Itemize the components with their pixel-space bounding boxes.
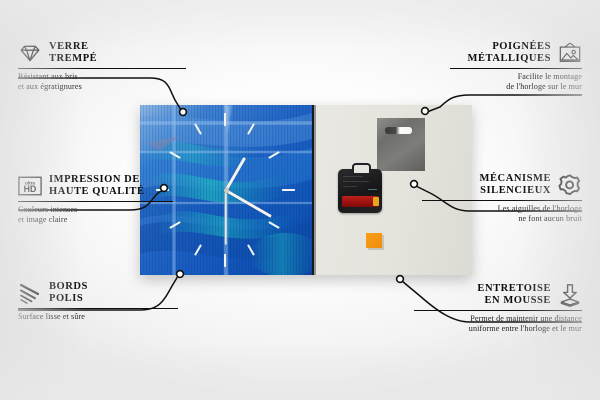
callout-subtitle: Facilite le montage de l'horloge sur le …: [414, 72, 582, 91]
callout-mecanisme-silencieux: MÉCANISME SILENCIEUX Les aiguilles de l'…: [414, 173, 582, 223]
callout-title: MÉCANISME SILENCIEUX: [480, 173, 551, 197]
callout-title: ENTRETOISE EN MOUSSE: [477, 283, 551, 307]
callout-rule: [450, 68, 582, 69]
callout-rule: [18, 308, 178, 309]
callout-rule: [422, 200, 582, 201]
callout-verre-trempe: VERRE TREMPÉ Résistant aux bris et aux é…: [18, 41, 186, 91]
callout-header: MÉCANISME SILENCIEUX: [414, 173, 582, 197]
callout-header: VERRE TREMPÉ: [18, 41, 186, 65]
leader-dot-poignees: [422, 108, 429, 115]
callout-impression-haute-qualite: ultra HD IMPRESSION DE HAUTE QUALITÉ Cou…: [18, 174, 173, 224]
callout-poignees-metalliques: POIGNÉES MÉTALLIQUES Facilite le montage…: [414, 41, 582, 91]
leader-line-poignees: [427, 95, 582, 112]
callout-subtitle: Surface lisse et sûre: [18, 312, 178, 322]
callout-title: POIGNÉES MÉTALLIQUES: [468, 41, 551, 65]
callout-subtitle: Permet de maintenir une distance uniform…: [414, 314, 582, 333]
ultra-hd-badge-icon: ultra HD: [18, 174, 42, 198]
leader-dot-entretoise: [397, 276, 404, 283]
callout-header: POIGNÉES MÉTALLIQUES: [414, 41, 582, 65]
callout-rule: [414, 310, 582, 311]
callout-rule: [18, 201, 173, 202]
callout-header: ultra HD IMPRESSION DE HAUTE QUALITÉ: [18, 174, 173, 198]
callout-rule: [18, 68, 186, 69]
callout-title: IMPRESSION DE HAUTE QUALITÉ: [49, 174, 145, 198]
callout-bords-polis: BORDS POLIS Surface lisse et sûre: [18, 281, 178, 322]
callout-subtitle: Couleurs intenses et image claire: [18, 205, 173, 224]
callout-entretoise-en-mousse: ENTRETOISE EN MOUSSE Permet de maintenir…: [414, 283, 582, 333]
callout-subtitle: Les aiguilles de l'horloge ne font aucun…: [414, 204, 582, 223]
leader-dot-verre-trempe: [180, 109, 187, 116]
callout-subtitle: Résistant aux bris et aux égratignures: [18, 72, 186, 91]
polished-edges-icon: [18, 281, 42, 305]
gear-icon: [558, 173, 582, 197]
wall-hanger-frame-icon: [558, 41, 582, 65]
callout-header: BORDS POLIS: [18, 281, 178, 305]
diamond-icon: [18, 41, 42, 65]
callout-header: ENTRETOISE EN MOUSSE: [414, 283, 582, 307]
callout-title: BORDS POLIS: [49, 281, 88, 305]
foam-spacer-icon: [558, 283, 582, 307]
hd-label: HD: [24, 184, 37, 194]
leader-dot-bords-polis: [177, 271, 184, 278]
infographic-canvas: VERRE TREMPÉ Résistant aux bris et aux é…: [0, 0, 600, 400]
callout-title: VERRE TREMPÉ: [49, 41, 97, 65]
